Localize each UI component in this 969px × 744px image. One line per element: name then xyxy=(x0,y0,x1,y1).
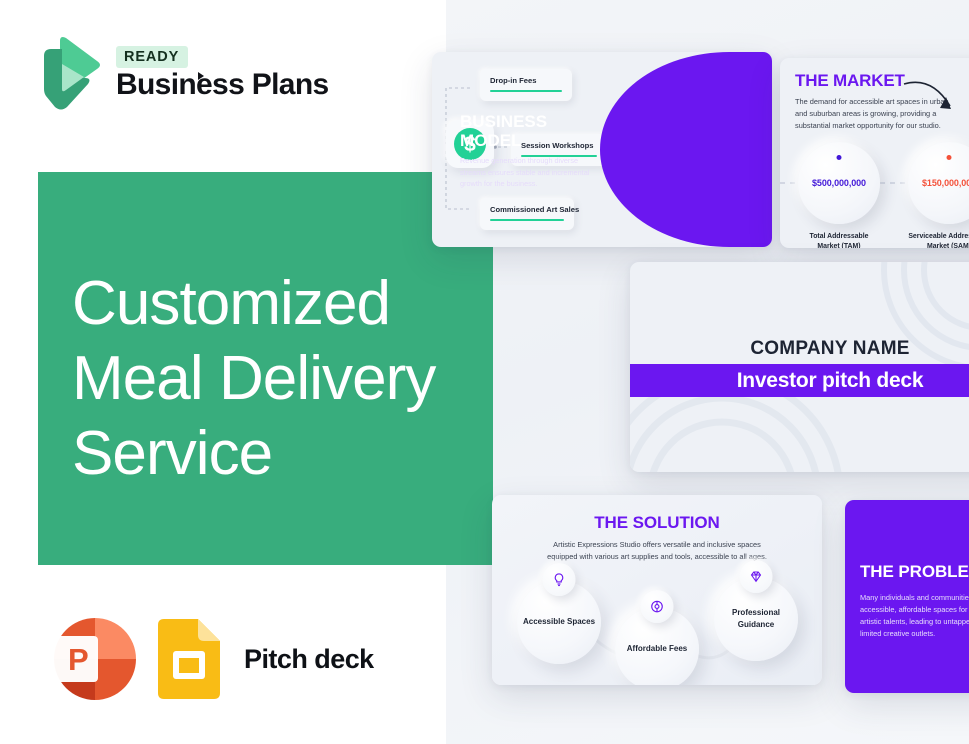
solution-node-professional-guidance[interactable]: Professional Guidance xyxy=(714,577,798,661)
business-model-body: Revenue generation through diverse strea… xyxy=(460,155,593,190)
investor-title-band: Investor pitch deck xyxy=(630,364,969,397)
market-metric-sam: $150,000,000 Serviceable Addressable Mar… xyxy=(908,142,969,248)
slide-the-market[interactable]: THE MARKET The demand for accessible art… xyxy=(780,58,969,248)
market-metric-tam-caption: Total Addressable Market (TAM) xyxy=(798,232,880,248)
solution-node-2-label: Affordable Fees xyxy=(627,643,687,655)
business-model-item-3[interactable]: Commissioned Art Sales xyxy=(480,198,574,230)
format-row: P Pitch deck xyxy=(40,613,374,705)
ready-badge: READY xyxy=(116,46,188,68)
pill-underline xyxy=(490,90,562,92)
ring-circle-icon xyxy=(641,590,674,623)
market-metric-sam-value: $150,000,000 xyxy=(922,178,969,188)
investor-company-name: COMPANY NAME xyxy=(630,338,969,360)
market-metric-sam-disc: $150,000,000 xyxy=(908,142,969,224)
curved-arrow-icon xyxy=(902,70,964,116)
svg-text:P: P xyxy=(68,642,89,677)
brand-name-text: Business Plans xyxy=(116,68,329,101)
market-metric-tam-disc: $500,000,000 xyxy=(798,142,880,224)
brand-logo-lockup: READY Business Plans xyxy=(40,34,329,112)
google-slides-icon xyxy=(158,619,220,699)
business-model-item-1[interactable]: Drop-in Fees xyxy=(480,69,572,101)
triangle-accent-icon xyxy=(198,72,204,80)
slide-investor-pitch-deck[interactable]: COMPANY NAME Investor pitch deck xyxy=(630,262,969,472)
powerpoint-icon: P xyxy=(40,613,136,705)
investor-title-label: Investor pitch deck xyxy=(737,369,924,393)
slide-business-model[interactable]: $ Drop-in Fees Session Workshops Commiss… xyxy=(432,52,772,247)
market-metric-sam-caption: Serviceable Addressable Market (SAM) xyxy=(908,232,969,248)
solution-node-3-label: Professional Guidance xyxy=(714,607,798,630)
page-title: Customized Meal Delivery Service xyxy=(72,266,492,491)
solution-node-accessible-spaces[interactable]: Accessible Spaces xyxy=(517,580,601,664)
format-label: Pitch deck xyxy=(244,644,374,675)
the-problem-body: Many individuals and communities lack ac… xyxy=(860,592,969,640)
brand-name: Business Plans xyxy=(116,69,329,101)
pill-underline xyxy=(490,219,564,221)
business-model-title: BUSINESS MODEL xyxy=(460,112,590,150)
market-metric-tam-value: $500,000,000 xyxy=(812,178,866,188)
business-model-item-1-label: Drop-in Fees xyxy=(490,76,562,85)
slide-the-solution[interactable]: THE SOLUTION Artistic Expressions Studio… xyxy=(492,495,822,685)
slide-the-problem[interactable]: THE PROBLEM Many individuals and communi… xyxy=(845,500,969,693)
market-metric-tam: $500,000,000 Total Addressable Market (T… xyxy=(798,142,880,248)
the-market-title: THE MARKET xyxy=(795,71,905,91)
brand-wordmark: READY Business Plans xyxy=(116,46,329,101)
diamond-icon xyxy=(740,560,773,593)
metric-dot-tam-icon xyxy=(837,155,842,160)
lightbulb-icon xyxy=(543,563,576,596)
business-model-item-3-label: Commissioned Art Sales xyxy=(490,205,564,214)
solution-node-affordable-fees[interactable]: Affordable Fees xyxy=(615,607,699,685)
play-triangle-logo-icon xyxy=(40,34,102,112)
the-problem-title: THE PROBLEM xyxy=(860,562,969,582)
solution-node-1-label: Accessible Spaces xyxy=(523,616,595,628)
metric-dot-sam-icon xyxy=(947,155,952,160)
